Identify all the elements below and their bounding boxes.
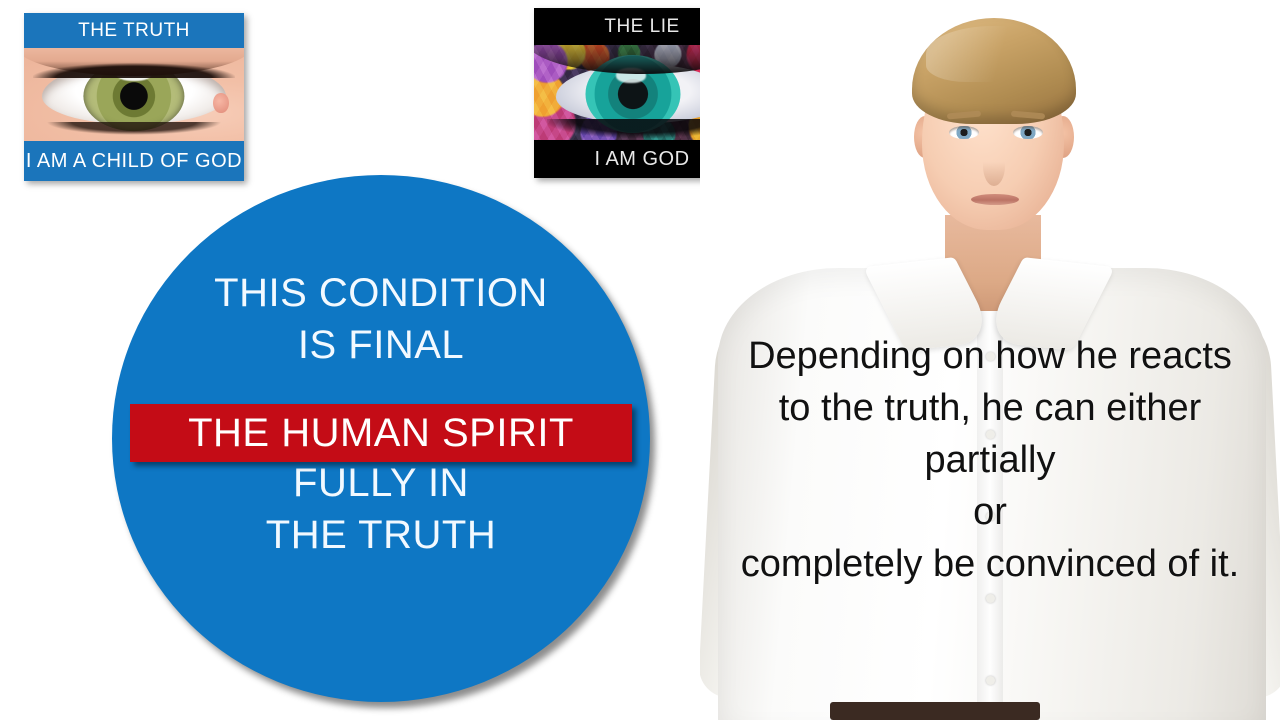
card-truth-header: THE TRUTH — [24, 13, 244, 48]
circle-line-4: THE TRUTH — [266, 509, 496, 561]
caption-line-3: partially — [712, 434, 1268, 486]
caption-line-1: Depending on how he reacts — [712, 330, 1268, 382]
eye-lashes-upper — [33, 63, 235, 78]
caption-line-4: or — [712, 486, 1268, 538]
belt — [830, 702, 1040, 720]
card-truth-caption: I AM A CHILD OF GOD — [24, 141, 244, 181]
hair-highlight — [926, 26, 1062, 82]
circle-line-1: THIS CONDITION — [214, 267, 548, 319]
human-spirit-banner: THE HUMAN SPIRIT — [130, 404, 632, 462]
eye-lashes-lower — [46, 122, 222, 135]
shirt-button — [986, 594, 995, 603]
caption-line-5: completely be convinced of it. — [712, 538, 1268, 590]
eye-card-truth: THE TRUTH I AM A CHILD OF GOD — [24, 13, 244, 181]
slide-canvas: THE TRUTH I AM A CHILD OF GOD THE LIE I … — [0, 0, 1280, 720]
circle-bottom-text: FULLY IN THE TRUTH — [266, 457, 496, 561]
caption-line-2: to the truth, he can either — [712, 382, 1268, 434]
green-eye-photo — [24, 48, 244, 141]
eye-caruncle — [213, 93, 228, 113]
shirt-button — [986, 676, 995, 685]
eye-right — [1013, 126, 1043, 139]
circle-line-3: FULLY IN — [266, 457, 496, 509]
human-spirit-banner-label: THE HUMAN SPIRIT — [188, 413, 574, 453]
circle-top-text: THIS CONDITION IS FINAL — [214, 267, 548, 371]
eye-left — [949, 126, 979, 139]
explanation-caption: Depending on how he reacts to the truth,… — [712, 330, 1268, 590]
circle-line-2: IS FINAL — [214, 319, 548, 371]
mouth — [971, 194, 1019, 205]
nose — [983, 146, 1005, 186]
